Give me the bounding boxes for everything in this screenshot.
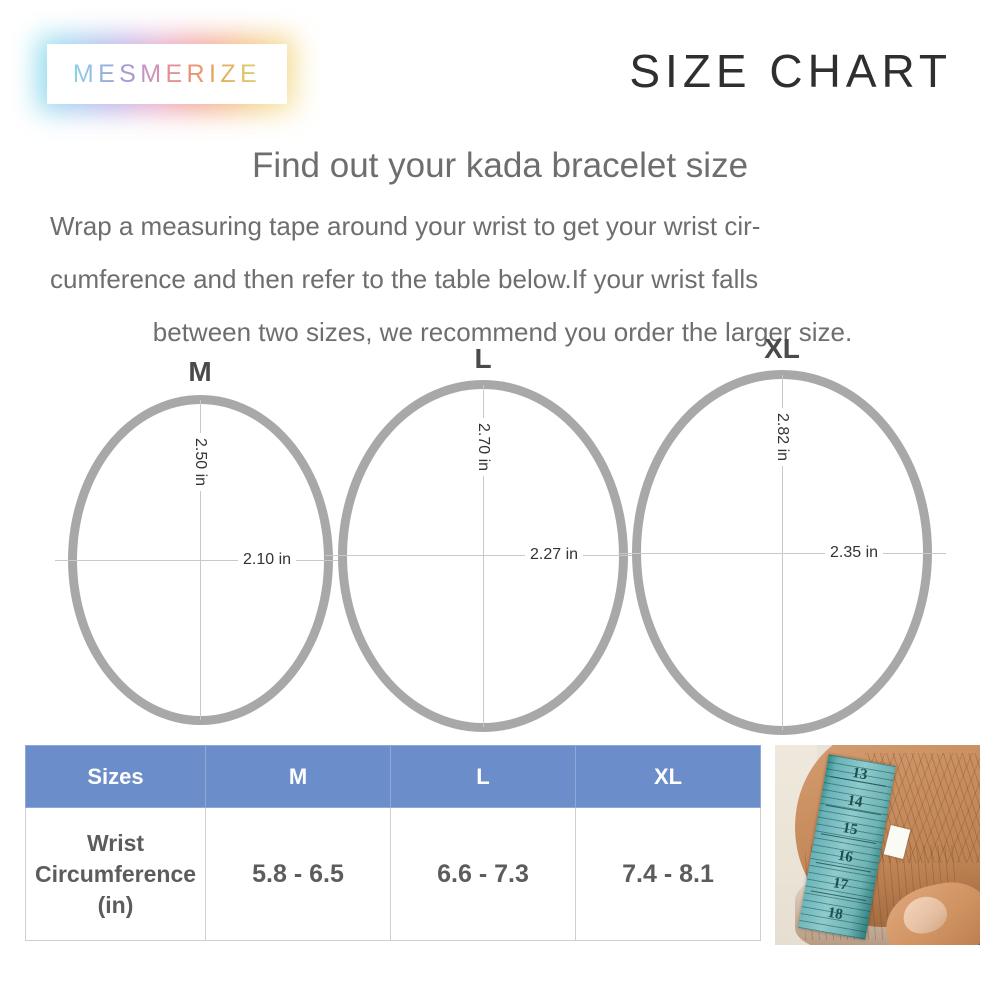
oval-diagram-group: M 2.50 in 2.10 in L 2.70 in 2.27 in XL 2… <box>0 355 1000 745</box>
oval-horizontal-axis-m <box>55 560 345 561</box>
table-header-row: Sizes M L XL <box>26 746 761 808</box>
oval-width-label-xl: 2.35 in <box>825 544 883 562</box>
oval-horizontal-axis-xl <box>618 553 946 554</box>
oval-width-label-m: 2.10 in <box>238 551 296 569</box>
table-row-label: Wrist Circumference (in) <box>26 808 206 941</box>
intro-line-3: between two sizes, we recommend you orde… <box>50 306 955 359</box>
size-chart-page: MESMERIZE SIZE CHART Find out your kada … <box>0 0 1000 1000</box>
row-label-line-2: Circumference <box>26 859 205 890</box>
oval-size-label-m: M <box>188 356 211 388</box>
oval-size-label-l: L <box>474 343 491 375</box>
table-header-xl: XL <box>576 746 761 808</box>
wrist-measurement-photo: 13 14 15 16 17 18 <box>775 745 980 945</box>
table-row: Wrist Circumference (in) 5.8 - 6.5 6.6 -… <box>26 808 761 941</box>
oval-height-label-l: 2.70 in <box>474 418 492 476</box>
intro-paragraph: Wrap a measuring tape around your wrist … <box>50 200 955 359</box>
table-header-l: L <box>391 746 576 808</box>
table-cell-l: 6.6 - 7.3 <box>391 808 576 941</box>
page-title: SIZE CHART <box>629 44 952 98</box>
table-cell-m: 5.8 - 6.5 <box>206 808 391 941</box>
headline: Find out your kada bracelet size <box>0 146 1000 186</box>
oval-size-label-xl: XL <box>764 333 800 365</box>
intro-line-1: Wrap a measuring tape around your wrist … <box>50 200 955 253</box>
table-cell-xl: 7.4 - 8.1 <box>576 808 761 941</box>
oval-width-label-l: 2.27 in <box>525 546 583 564</box>
row-label-line-3: (in) <box>26 890 205 921</box>
oval-horizontal-axis-l <box>325 555 640 556</box>
oval-height-label-m: 2.50 in <box>191 433 209 491</box>
oval-height-label-xl: 2.82 in <box>773 408 791 466</box>
intro-line-2: cumference and then refer to the table b… <box>50 253 955 306</box>
table-header-sizes: Sizes <box>26 746 206 808</box>
size-table: Sizes M L XL Wrist Circumference (in) 5.… <box>25 745 761 941</box>
logo-text: MESMERIZE <box>73 60 261 89</box>
brand-logo: MESMERIZE <box>47 44 287 104</box>
row-label-line-1: Wrist <box>26 828 205 859</box>
table-header-m: M <box>206 746 391 808</box>
logo-box: MESMERIZE <box>47 44 287 104</box>
